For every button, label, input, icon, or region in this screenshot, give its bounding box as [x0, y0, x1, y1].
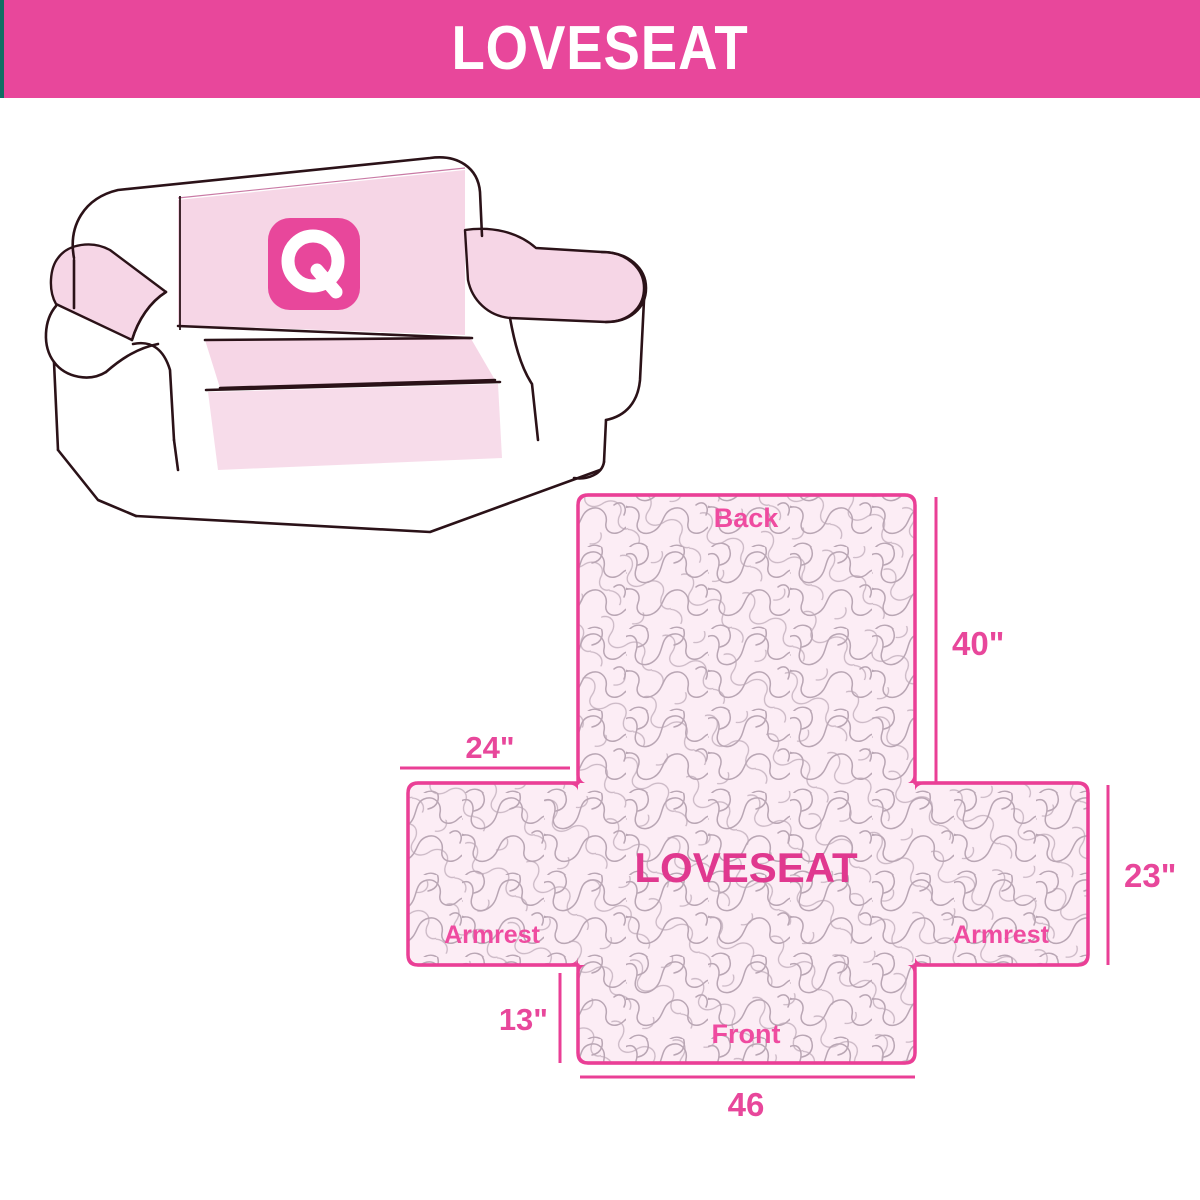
panel-back: Back — [578, 495, 915, 785]
panel-label-front: Front — [712, 1019, 781, 1049]
brand-logo — [268, 218, 360, 310]
sofa-seat-cushion — [205, 337, 502, 470]
dimension-label-13: 13" — [499, 1002, 548, 1037]
page-title: LOVESEAT — [72, 0, 1128, 98]
dimension-label-24: 24" — [465, 730, 514, 765]
panel-armrest-left: Armrest — [408, 783, 580, 965]
dimension-label-46: 46 — [728, 1086, 765, 1123]
dimension-label-40: 40" — [952, 625, 1004, 662]
dimension-armrest-height: 23" — [1108, 785, 1176, 965]
dimension-back-height: 40" — [936, 497, 1004, 783]
dimension-label-23: 23" — [1124, 857, 1176, 894]
panel-label-armrest-right: Armrest — [953, 921, 1050, 949]
diagram-center-label: LOVESEAT — [634, 844, 858, 891]
dimension-armrest-offset: 24" — [400, 730, 570, 768]
panel-label-armrest-left: Armrest — [444, 921, 541, 949]
panel-label-back: Back — [714, 503, 780, 533]
dimension-front-width: 46 — [580, 1077, 915, 1123]
header-banner: LOVESEAT — [0, 0, 1200, 98]
panel-armrest-right: Armrest — [913, 783, 1088, 965]
cover-flat-layout-diagram: Back Armrest Armrest Front LOVESEAT — [380, 465, 1180, 1145]
panel-front: Front — [578, 963, 915, 1063]
dimension-front-height: 13" — [499, 973, 560, 1063]
header-accent-strip — [0, 0, 4, 98]
